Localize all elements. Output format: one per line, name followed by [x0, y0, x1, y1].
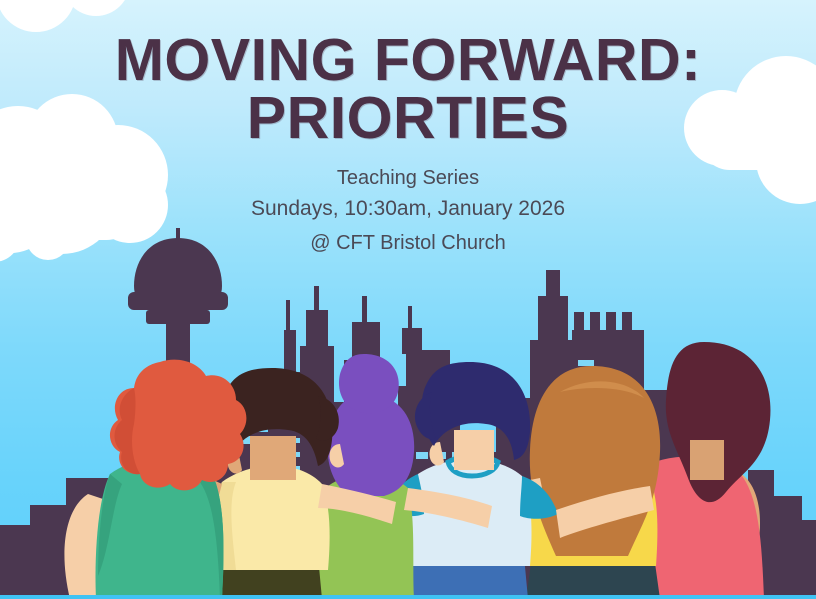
person-4-neck: [454, 430, 494, 470]
person-6-neck: [690, 440, 724, 480]
bottom-accent-rule: [0, 595, 816, 599]
scene-illustration: [0, 0, 816, 599]
person-2-neck: [250, 436, 296, 480]
poster-canvas: MOVING FORWARD: PRIORTIES Teaching Serie…: [0, 0, 816, 599]
poster-artwork: [0, 0, 816, 599]
person-3-bun: [339, 354, 399, 413]
person-5-hair: [530, 366, 660, 556]
